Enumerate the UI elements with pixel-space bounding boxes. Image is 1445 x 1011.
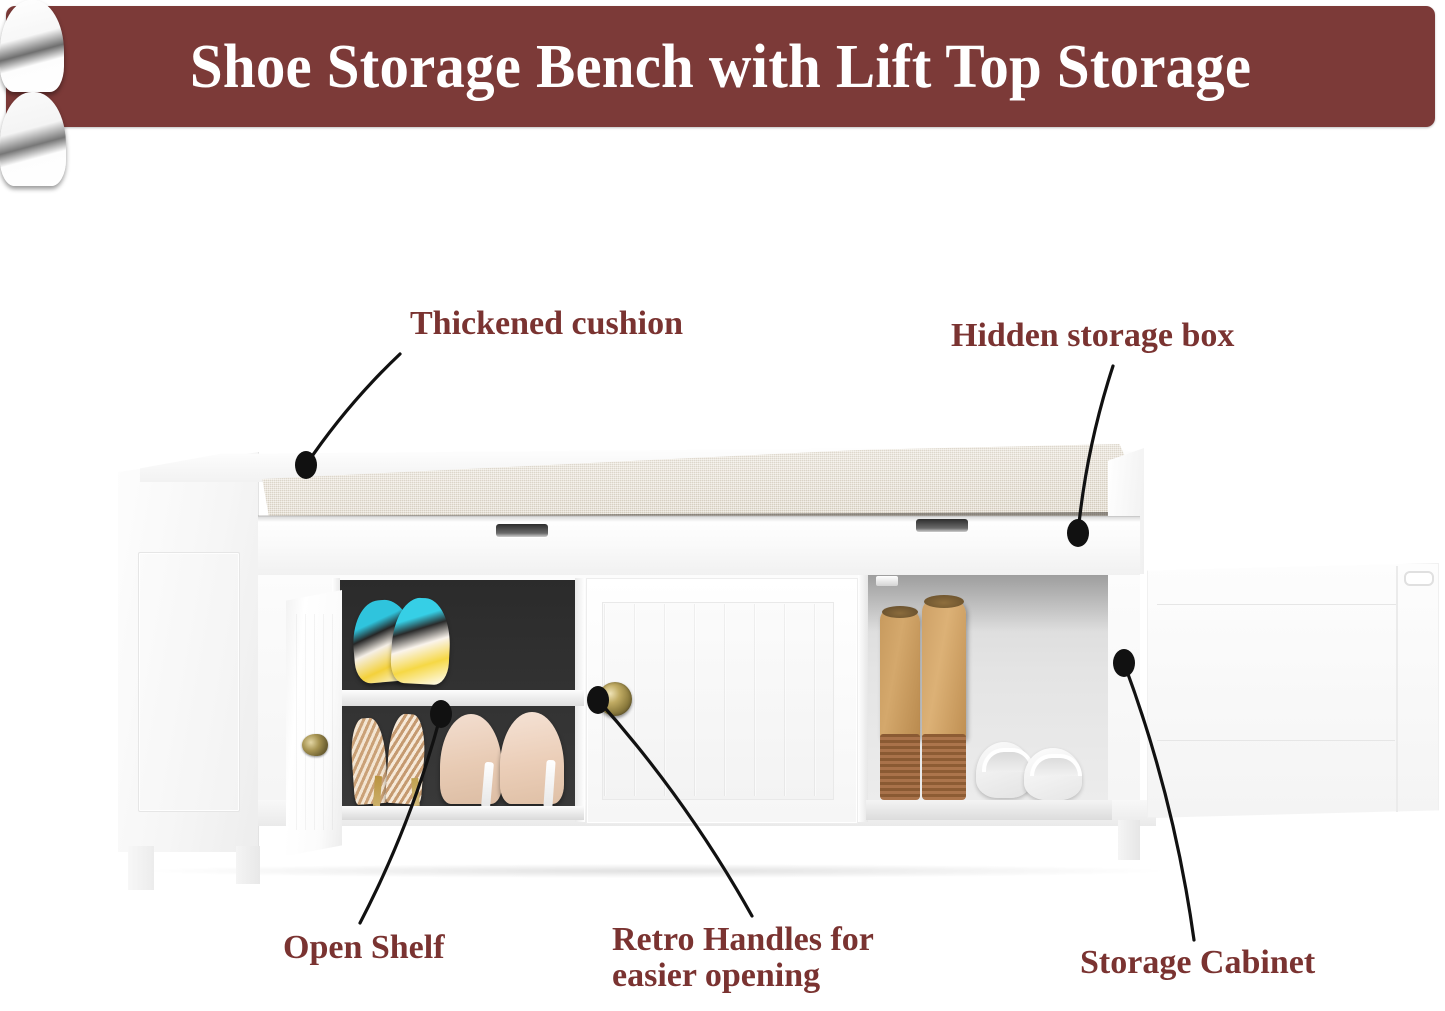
hidden-storage-box-front: [258, 516, 1140, 575]
cabinet-hinge-icon: [876, 576, 898, 586]
center-door-beadboard: [604, 604, 830, 796]
open-shelf-middle-board: [336, 690, 584, 706]
lift-top-slot-handle-left[interactable]: [496, 524, 548, 537]
bench-leg-back-left: [236, 846, 260, 884]
bench-leg-front-left: [128, 846, 154, 890]
tan-suede-boot-left-rim: [882, 606, 918, 618]
retro-knob-left-door[interactable]: [302, 734, 328, 756]
snakeskin-sandal-heel-right: [411, 778, 419, 806]
right-door-stile: [1396, 566, 1398, 812]
storage-cabinet-floor: [866, 800, 1112, 820]
callout-label-thickened-cushion: Thickened cushion: [410, 306, 683, 342]
open-shelf-bottom-board: [336, 806, 584, 820]
white-grey-sneaker-right: [0, 92, 66, 186]
right-door-rail-top: [1157, 604, 1397, 605]
callout-label-retro-handles: Retro Handles for easier opening: [612, 922, 874, 994]
tan-suede-boot-left-heel: [880, 734, 920, 800]
callout-label-open-shelf: Open Shelf: [283, 930, 445, 966]
rail-top-shadow: [258, 516, 1140, 522]
tan-suede-boot-right-rim: [924, 595, 964, 608]
retro-knob-center-door[interactable]: [598, 682, 632, 716]
callout-label-hidden-storage-box: Hidden storage box: [951, 318, 1234, 354]
tan-suede-boot-right-heel: [922, 734, 966, 800]
right-door-handle-cutout[interactable]: [1404, 571, 1434, 586]
right-door-rail-bottom: [1157, 740, 1395, 741]
product-photo: [0, 0, 1445, 1011]
callout-label-storage-cabinet: Storage Cabinet: [1080, 945, 1315, 981]
lift-top-slot-handle-right[interactable]: [916, 519, 968, 532]
floor-shadow: [150, 864, 1160, 878]
tan-suede-boot-right: [922, 598, 966, 740]
white-grey-sneaker-left: [0, 0, 64, 92]
tan-suede-boot-left: [880, 608, 920, 740]
storage-cabinet-wall-left: [858, 570, 868, 822]
bench-leg-right: [1118, 820, 1140, 860]
bench-side-panel-inset: [138, 552, 240, 812]
left-door-beadboard: [296, 614, 334, 830]
